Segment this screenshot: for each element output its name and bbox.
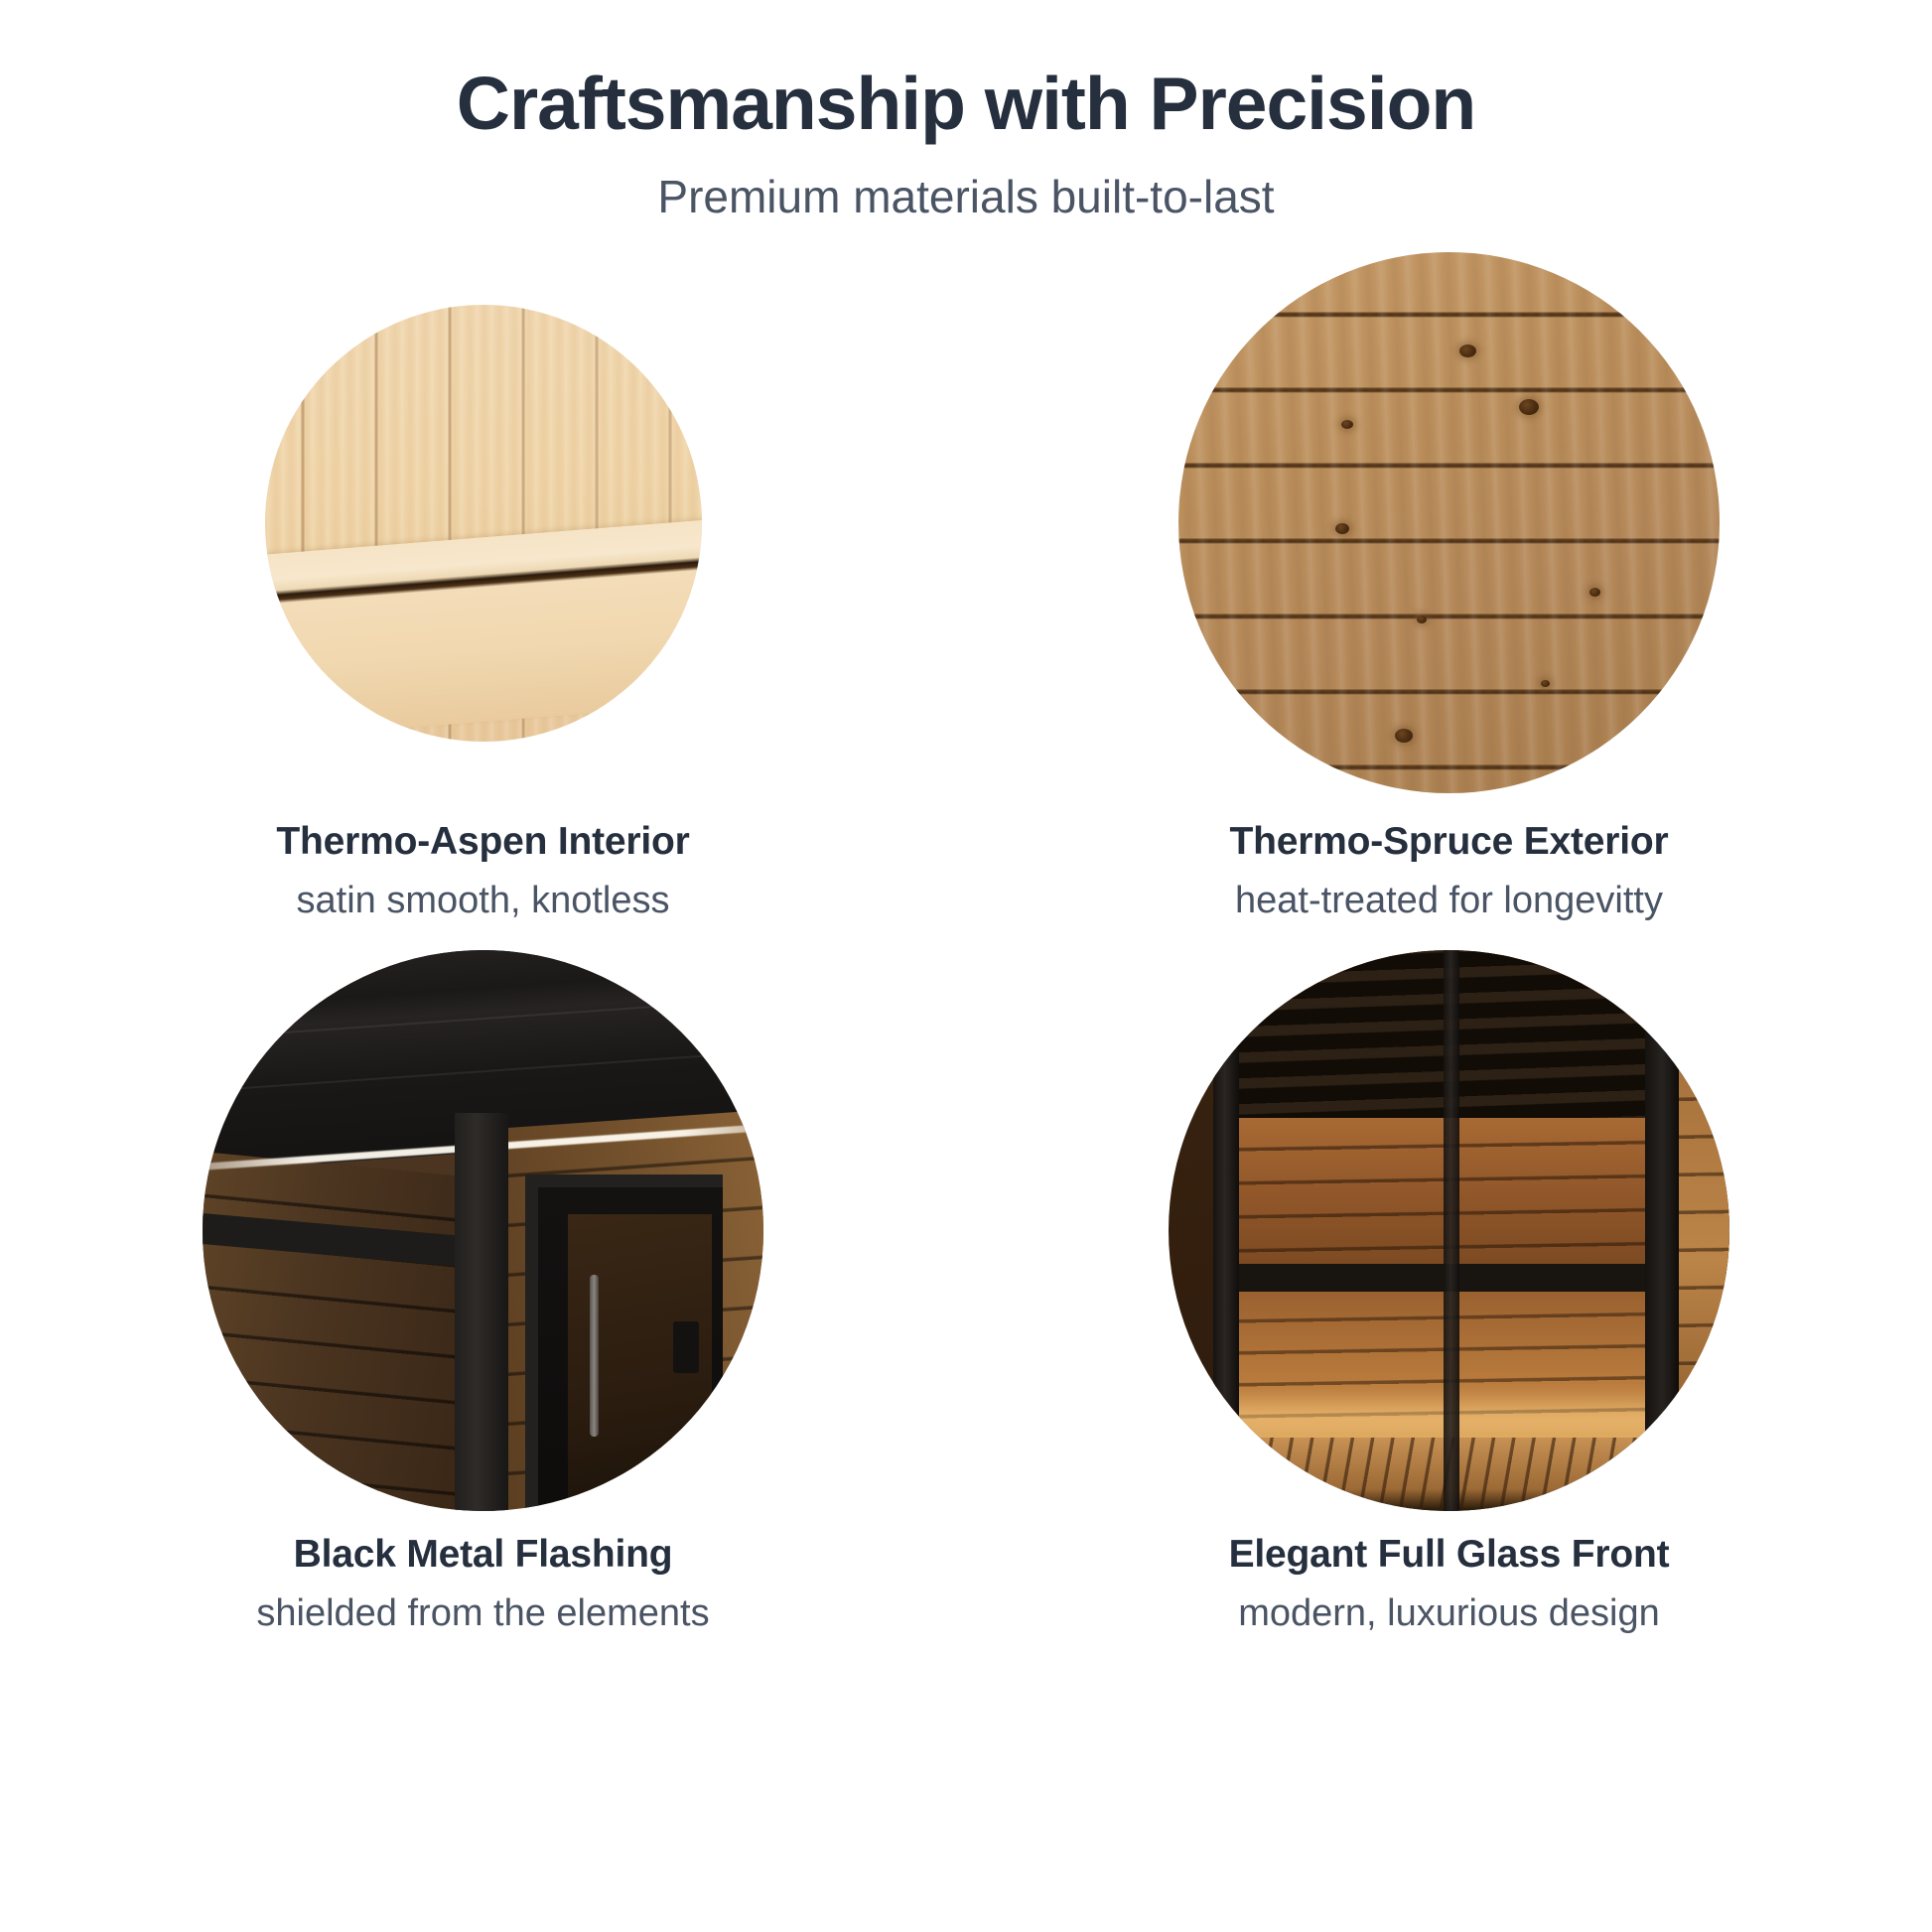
cabin-wall-left xyxy=(203,1152,494,1511)
feature-showcase-page: Craftsmanship with Precision Premium mat… xyxy=(0,0,1932,1932)
feature-image-wrap xyxy=(1172,245,1727,801)
feature-card-thermo-aspen-interior[interactable]: Thermo-Aspen Interior satin smooth, knot… xyxy=(0,245,966,924)
wood-knot-icon xyxy=(1335,523,1349,534)
page-title: Craftsmanship with Precision xyxy=(0,62,1932,145)
glass-frame-right xyxy=(1645,950,1679,1511)
thermo-aspen-interior-image xyxy=(265,305,702,742)
flashing-seam xyxy=(203,1044,763,1096)
glass-mullion-left xyxy=(1213,950,1239,1511)
wood-knot-icon xyxy=(1519,399,1539,415)
feature-card-black-metal-flashing[interactable]: Black Metal Flashing shielded from the e… xyxy=(0,942,966,1637)
feature-image-wrap xyxy=(206,245,761,801)
feature-title: Thermo-Spruce Exterior xyxy=(1229,819,1668,866)
page-subtitle: Premium materials built-to-last xyxy=(0,171,1932,223)
feature-title: Elegant Full Glass Front xyxy=(1229,1532,1670,1579)
wood-knot-icon xyxy=(1341,420,1353,429)
wood-knot-icon xyxy=(1589,588,1600,597)
feature-caption: Black Metal Flashing shielded from the e… xyxy=(256,1532,709,1637)
feature-caption: Thermo-Spruce Exterior heat-treated for … xyxy=(1229,819,1668,924)
door-latch xyxy=(673,1321,699,1373)
spruce-wood-texture xyxy=(1178,252,1720,793)
wood-knot-icon xyxy=(1395,729,1413,743)
glass-mullion-center xyxy=(1444,950,1459,1511)
cabin-corner-post xyxy=(455,1113,508,1511)
page-header: Craftsmanship with Precision Premium mat… xyxy=(0,0,1932,223)
wood-knot-icon xyxy=(1417,616,1427,623)
aspen-bench-ledge xyxy=(265,587,702,657)
feature-image-wrap xyxy=(196,942,771,1518)
feature-title: Thermo-Aspen Interior xyxy=(276,819,689,866)
feature-grid: Thermo-Aspen Interior satin smooth, knot… xyxy=(0,245,1932,1638)
flashing-seam xyxy=(203,993,763,1044)
feature-image-wrap xyxy=(1162,942,1737,1518)
feature-card-elegant-full-glass-front[interactable]: Elegant Full Glass Front modern, luxurio… xyxy=(966,942,1932,1637)
door-handle xyxy=(590,1275,599,1437)
glass-front-interior-texture xyxy=(1169,950,1729,1511)
thermo-spruce-exterior-image xyxy=(1178,252,1720,793)
elegant-full-glass-front-image xyxy=(1169,950,1729,1511)
feature-title: Black Metal Flashing xyxy=(256,1532,709,1579)
feature-caption: Thermo-Aspen Interior satin smooth, knot… xyxy=(276,819,689,924)
feature-subtitle: heat-treated for longevitty xyxy=(1229,878,1668,925)
wood-knot-icon xyxy=(1459,345,1476,357)
aspen-wood-texture xyxy=(265,305,702,742)
cabin-door xyxy=(525,1174,723,1511)
black-metal-flashing-image xyxy=(203,950,763,1511)
feature-subtitle: shielded from the elements xyxy=(256,1590,709,1638)
feature-card-thermo-spruce-exterior[interactable]: Thermo-Spruce Exterior heat-treated for … xyxy=(966,245,1932,924)
black-metal-cabin-texture xyxy=(203,950,763,1511)
feature-subtitle: satin smooth, knotless xyxy=(276,878,689,925)
wood-knot-icon xyxy=(1541,680,1550,687)
feature-caption: Elegant Full Glass Front modern, luxurio… xyxy=(1229,1532,1670,1637)
feature-subtitle: modern, luxurious design xyxy=(1229,1590,1670,1638)
exterior-side-cladding xyxy=(1679,950,1729,1511)
